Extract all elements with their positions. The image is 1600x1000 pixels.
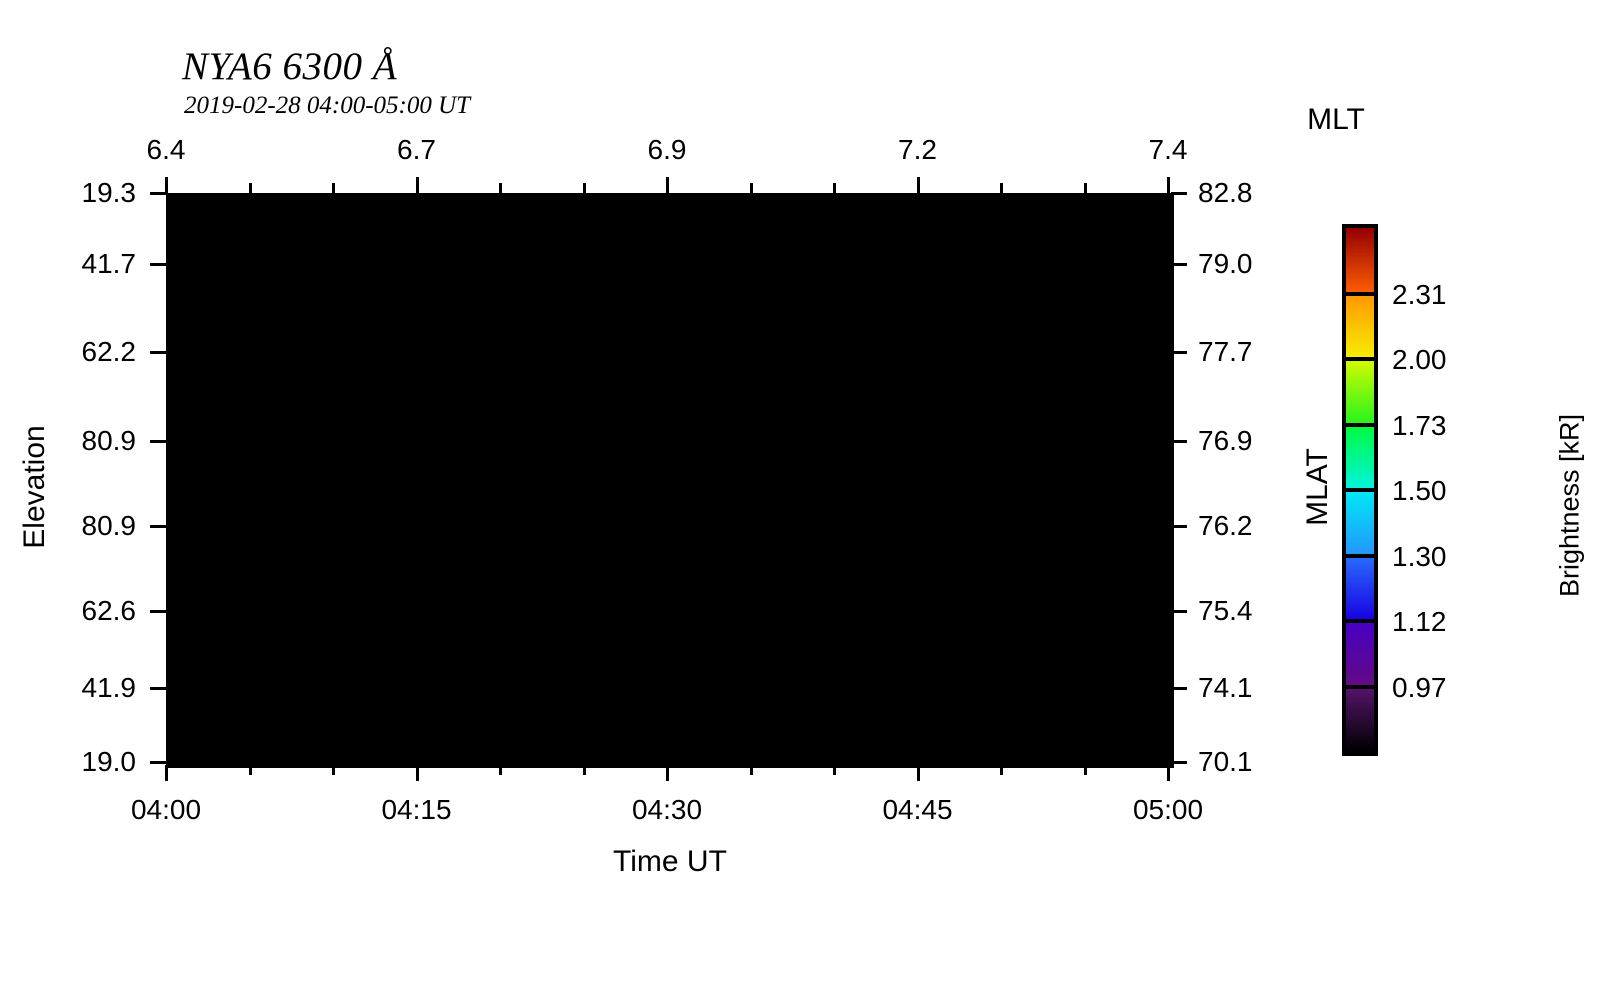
time-minor-tick-1-2 [583,765,586,775]
colorbar-tick-label-3: 1.50 [1392,475,1447,507]
time-major-tick-3 [917,765,920,781]
elev-tick-label-1: 41.7 [36,248,136,280]
mlt-minor-tick-1-2 [583,183,586,193]
elev-major-tick-5 [150,610,166,613]
time-minor-tick-3-2 [1084,765,1087,775]
colorbar-title: Brightness [kR] [1555,326,1586,686]
elev-tick-label-5: 62.6 [36,595,136,627]
mlat-major-tick-1 [1171,263,1187,266]
mlt-minor-tick-2-1 [750,183,753,193]
elev-tick-label-4: 80.9 [36,510,136,542]
time-minor-tick-0-2 [332,765,335,775]
mlt-tick-label-3: 7.2 [898,134,937,166]
elev-major-tick-6 [150,687,166,690]
colorbar-separator-5 [1346,357,1374,361]
time-tick-label-2: 04:30 [632,794,702,826]
time-tick-label-4: 05:00 [1133,794,1203,826]
keogram-plot-area[interactable] [166,193,1174,768]
mlt-axis-title-text: MLT [1307,103,1365,136]
elev-major-tick-0 [150,192,166,195]
mlt-tick-label-1: 6.7 [397,134,436,166]
mlt-axis-title: MLT [0,103,1171,137]
page-title: NYA6 6300 Å [182,44,397,89]
colorbar-tick-label-5: 2.00 [1392,344,1447,376]
mlt-major-tick-4 [1167,177,1170,193]
time-minor-tick-1-1 [499,765,502,775]
mlat-tick-label-4: 76.2 [1198,510,1253,542]
time-minor-tick-0-1 [249,765,252,775]
time-minor-tick-2-2 [833,765,836,775]
colorbar-separator-1 [1346,619,1374,623]
mlt-tick-label-0: 6.4 [147,134,186,166]
time-tick-label-3: 04:45 [882,794,952,826]
mlat-major-tick-0 [1171,192,1187,195]
mlat-major-tick-4 [1171,525,1187,528]
mlat-major-tick-2 [1171,351,1187,354]
mlt-major-tick-3 [917,177,920,193]
mlat-major-tick-7 [1171,761,1187,764]
colorbar-tick-label-6: 2.31 [1392,279,1447,311]
time-major-tick-2 [666,765,669,781]
colorbar-tick-label-1: 1.12 [1392,606,1447,638]
y-axis-left-title: Elevation [18,372,52,602]
keogram-image [169,196,1171,765]
elev-tick-label-6: 41.9 [36,672,136,704]
mlt-tick-label-2: 6.9 [648,134,687,166]
time-tick-label-0: 04:00 [131,794,201,826]
mlt-minor-tick-3-2 [1084,183,1087,193]
colorbar-separator-2 [1346,554,1374,558]
mlat-tick-label-0: 82.8 [1198,177,1253,209]
mlt-minor-tick-1-1 [499,183,502,193]
mlat-tick-label-3: 76.9 [1198,425,1253,457]
elev-tick-label-0: 19.3 [36,177,136,209]
time-major-tick-4 [1167,765,1170,781]
mlat-major-tick-3 [1171,440,1187,443]
colorbar-separator-6 [1346,292,1374,296]
colorbar-tick-label-2: 1.30 [1392,541,1447,573]
keogram-figure: NYA6 6300 Å 2019-02-28 04:00-05:00 UT ML… [0,0,1600,1000]
mlt-major-tick-1 [416,177,419,193]
colorbar-separator-0 [1346,685,1374,689]
time-major-tick-0 [165,765,168,781]
elev-major-tick-2 [150,351,166,354]
mlt-major-tick-0 [165,177,168,193]
time-tick-label-1: 04:15 [381,794,451,826]
mlat-tick-label-5: 75.4 [1198,595,1253,627]
mlt-minor-tick-2-2 [833,183,836,193]
time-minor-tick-2-1 [750,765,753,775]
elev-tick-label-3: 80.9 [36,425,136,457]
colorbar-separator-3 [1346,488,1374,492]
mlt-minor-tick-3-1 [1000,183,1003,193]
time-major-tick-1 [416,765,419,781]
elev-tick-label-2: 62.2 [36,336,136,368]
mlt-minor-tick-0-1 [249,183,252,193]
elev-tick-label-7: 19.0 [36,746,136,778]
colorbar-tick-label-0: 0.97 [1392,672,1447,704]
colorbar-tick-label-4: 1.73 [1392,410,1447,442]
y-axis-right-title: MLAT [1301,397,1335,577]
elev-major-tick-1 [150,263,166,266]
elev-major-tick-7 [150,761,166,764]
mlat-major-tick-5 [1171,610,1187,613]
elev-major-tick-4 [150,525,166,528]
colorbar-separator-4 [1346,423,1374,427]
time-minor-tick-3-1 [1000,765,1003,775]
mlat-tick-label-7: 70.1 [1198,746,1253,778]
elev-major-tick-3 [150,440,166,443]
mlt-tick-label-4: 7.4 [1149,134,1188,166]
mlt-minor-tick-0-2 [332,183,335,193]
x-axis-title: Time UT [166,845,1174,879]
mlat-tick-label-1: 79.0 [1198,248,1253,280]
mlat-major-tick-6 [1171,687,1187,690]
mlat-tick-label-6: 74.1 [1198,672,1253,704]
mlat-tick-label-2: 77.7 [1198,336,1253,368]
mlt-major-tick-2 [666,177,669,193]
